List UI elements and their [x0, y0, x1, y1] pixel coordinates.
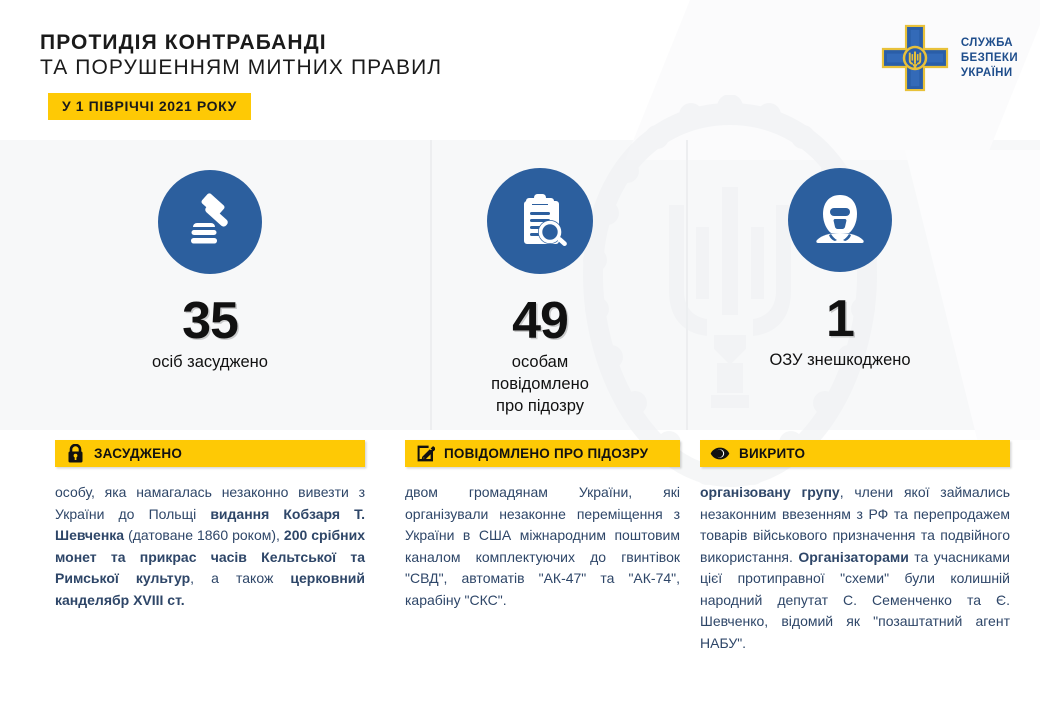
clipboard-search-icon	[509, 190, 571, 252]
masked-person-icon-circle	[788, 168, 892, 272]
stat-suspicion: 49 особам повідомлено про підозру	[390, 168, 690, 417]
page-title-line1: ПРОТИДІЯ КОНТРАБАНДІ	[40, 30, 442, 55]
detail-columns: ЗАСУДЖЕНО особу, яка намагалась незаконн…	[0, 440, 1040, 720]
column-header-bar: ВИКРИТО	[700, 440, 1010, 467]
column-exposed: ВИКРИТО організовану групу, члени якої з…	[700, 440, 1010, 654]
column-header-bar: ЗАСУДЖЕНО	[55, 440, 365, 467]
sbu-logo-line1: СЛУЖБА	[961, 36, 1018, 51]
infographic-page: ПРОТИДІЯ КОНТРАБАНДІ ТА ПОРУШЕННЯМ МИТНИ…	[0, 0, 1040, 720]
column-body: двом громадянам України, які організувал…	[405, 482, 680, 611]
column-body: організовану групу, члени якої займались…	[700, 482, 1010, 654]
column-title: ЗАСУДЖЕНО	[94, 446, 182, 461]
stat-value: 1	[690, 290, 990, 348]
column-header-bar: ПОВІДОМЛЕНО ПРО ПІДОЗРУ	[405, 440, 680, 467]
column-title: ВИКРИТО	[739, 446, 805, 461]
stat-value: 35	[60, 292, 360, 350]
stat-convicted: 35 осіб засуджено	[60, 170, 360, 373]
stat-label: ОЗУ знешкоджено	[690, 349, 990, 371]
stats-row: 35 осіб засуджено	[0, 150, 1040, 430]
sbu-emblem-icon	[879, 22, 951, 94]
eye-icon	[710, 444, 730, 464]
stat-value: 49	[390, 292, 690, 350]
column-convicted: ЗАСУДЖЕНО особу, яка намагалась незаконн…	[55, 440, 365, 611]
gavel-icon	[180, 192, 240, 252]
column-body: особу, яка намагалась незаконно вивезти …	[55, 482, 365, 611]
sbu-logo-text: СЛУЖБА БЕЗПЕКИ УКРАЇНИ	[961, 36, 1018, 81]
stat-label: особам повідомлено про підозру	[390, 351, 690, 417]
page-title-line2: ТА ПОРУШЕННЯМ МИТНИХ ПРАВИЛ	[40, 55, 442, 81]
sbu-logo-line3: УКРАЇНИ	[961, 66, 1018, 81]
column-suspicion: ПОВІДОМЛЕНО ПРО ПІДОЗРУ двом громадянам …	[405, 440, 680, 611]
sbu-logo: СЛУЖБА БЕЗПЕКИ УКРАЇНИ	[879, 22, 1018, 94]
gavel-icon-circle	[158, 170, 262, 274]
clipboard-search-icon-circle	[487, 168, 593, 274]
stat-criminal-group: 1 ОЗУ знешкоджено	[690, 168, 990, 371]
sbu-logo-line2: БЕЗПЕКИ	[961, 51, 1018, 66]
page-header: ПРОТИДІЯ КОНТРАБАНДІ ТА ПОРУШЕННЯМ МИТНИ…	[0, 0, 1040, 140]
period-badge: У 1 ПІВРІЧЧІ 2021 РОКУ	[48, 93, 251, 120]
pencil-note-icon	[415, 444, 435, 464]
masked-person-icon	[809, 189, 871, 251]
page-title: ПРОТИДІЯ КОНТРАБАНДІ ТА ПОРУШЕННЯМ МИТНИ…	[40, 30, 442, 81]
lock-icon	[65, 444, 85, 464]
column-title: ПОВІДОМЛЕНО ПРО ПІДОЗРУ	[444, 446, 648, 461]
stat-label: осіб засуджено	[60, 351, 360, 373]
